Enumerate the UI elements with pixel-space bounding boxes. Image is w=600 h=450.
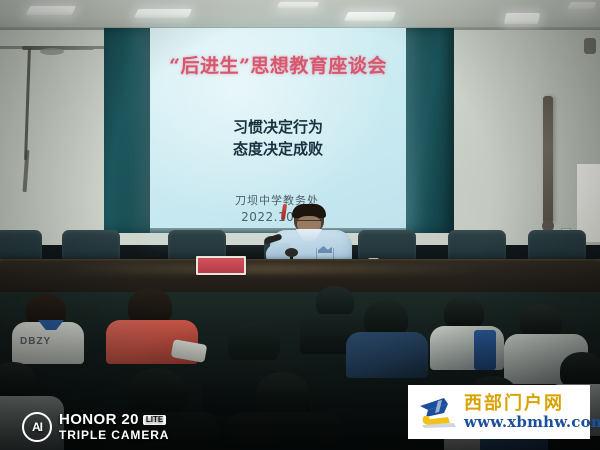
student-head bbox=[444, 296, 484, 330]
microphone-icon bbox=[285, 248, 298, 257]
camera-feature: TRIPLE CAMERA bbox=[59, 429, 169, 442]
site-watermark: 西部门户网 www.xbmhw.com bbox=[408, 385, 590, 439]
ceiling-light bbox=[134, 9, 192, 18]
camera-brand: HONOR 20 bbox=[59, 412, 139, 428]
site-logo-icon bbox=[414, 392, 460, 432]
camera-brand-line: HONOR 20 LITE bbox=[59, 412, 169, 428]
student-torso bbox=[228, 412, 342, 450]
slide-title: “后进生”思想教育座谈会 bbox=[150, 51, 406, 78]
camera-watermark-text: HONOR 20 LITE TRIPLE CAMERA bbox=[59, 412, 169, 441]
podium-highlight bbox=[60, 264, 480, 274]
camera-edition-badge: LITE bbox=[143, 415, 166, 425]
slide-subtitle-line2: 态度决定成败 bbox=[150, 138, 406, 160]
student-torso bbox=[346, 332, 428, 378]
student-uniform-stripe bbox=[474, 330, 496, 370]
uniform-text: DBZY bbox=[20, 336, 80, 347]
site-url: www.xbmhw.com bbox=[464, 414, 600, 431]
slide-subtitle-line1: 习惯决定行为 bbox=[150, 116, 406, 138]
slide-subtitle: 习惯决定行为 态度决定成败 bbox=[150, 116, 406, 160]
wall-mark bbox=[584, 38, 596, 54]
curtain-right bbox=[404, 28, 454, 233]
nameplate bbox=[196, 256, 246, 275]
glasses-icon bbox=[297, 220, 321, 225]
ceiling-light bbox=[344, 12, 396, 21]
projection-screen: “后进生”思想教育座谈会 习惯决定行为 态度决定成败 刀坝中学教务处 2022.… bbox=[150, 28, 406, 231]
ceiling-light bbox=[26, 6, 76, 15]
camera-watermark: AI HONOR 20 LITE TRIPLE CAMERA bbox=[22, 412, 169, 442]
ai-badge-icon: AI bbox=[22, 412, 52, 442]
photograph: “后进生”思想教育座谈会 习惯决定行为 态度决定成败 刀坝中学教务处 2022.… bbox=[0, 0, 600, 450]
site-name: 西部门户网 bbox=[464, 394, 600, 414]
ceiling-light bbox=[504, 13, 540, 24]
ceiling-light bbox=[567, 2, 596, 9]
hanging-object bbox=[543, 96, 553, 224]
ceiling-light bbox=[277, 2, 320, 8]
curtain-left bbox=[104, 28, 152, 233]
site-watermark-text: 西部门户网 www.xbmhw.com bbox=[464, 394, 600, 431]
red-marker bbox=[281, 204, 287, 220]
wall-stain bbox=[40, 48, 64, 55]
